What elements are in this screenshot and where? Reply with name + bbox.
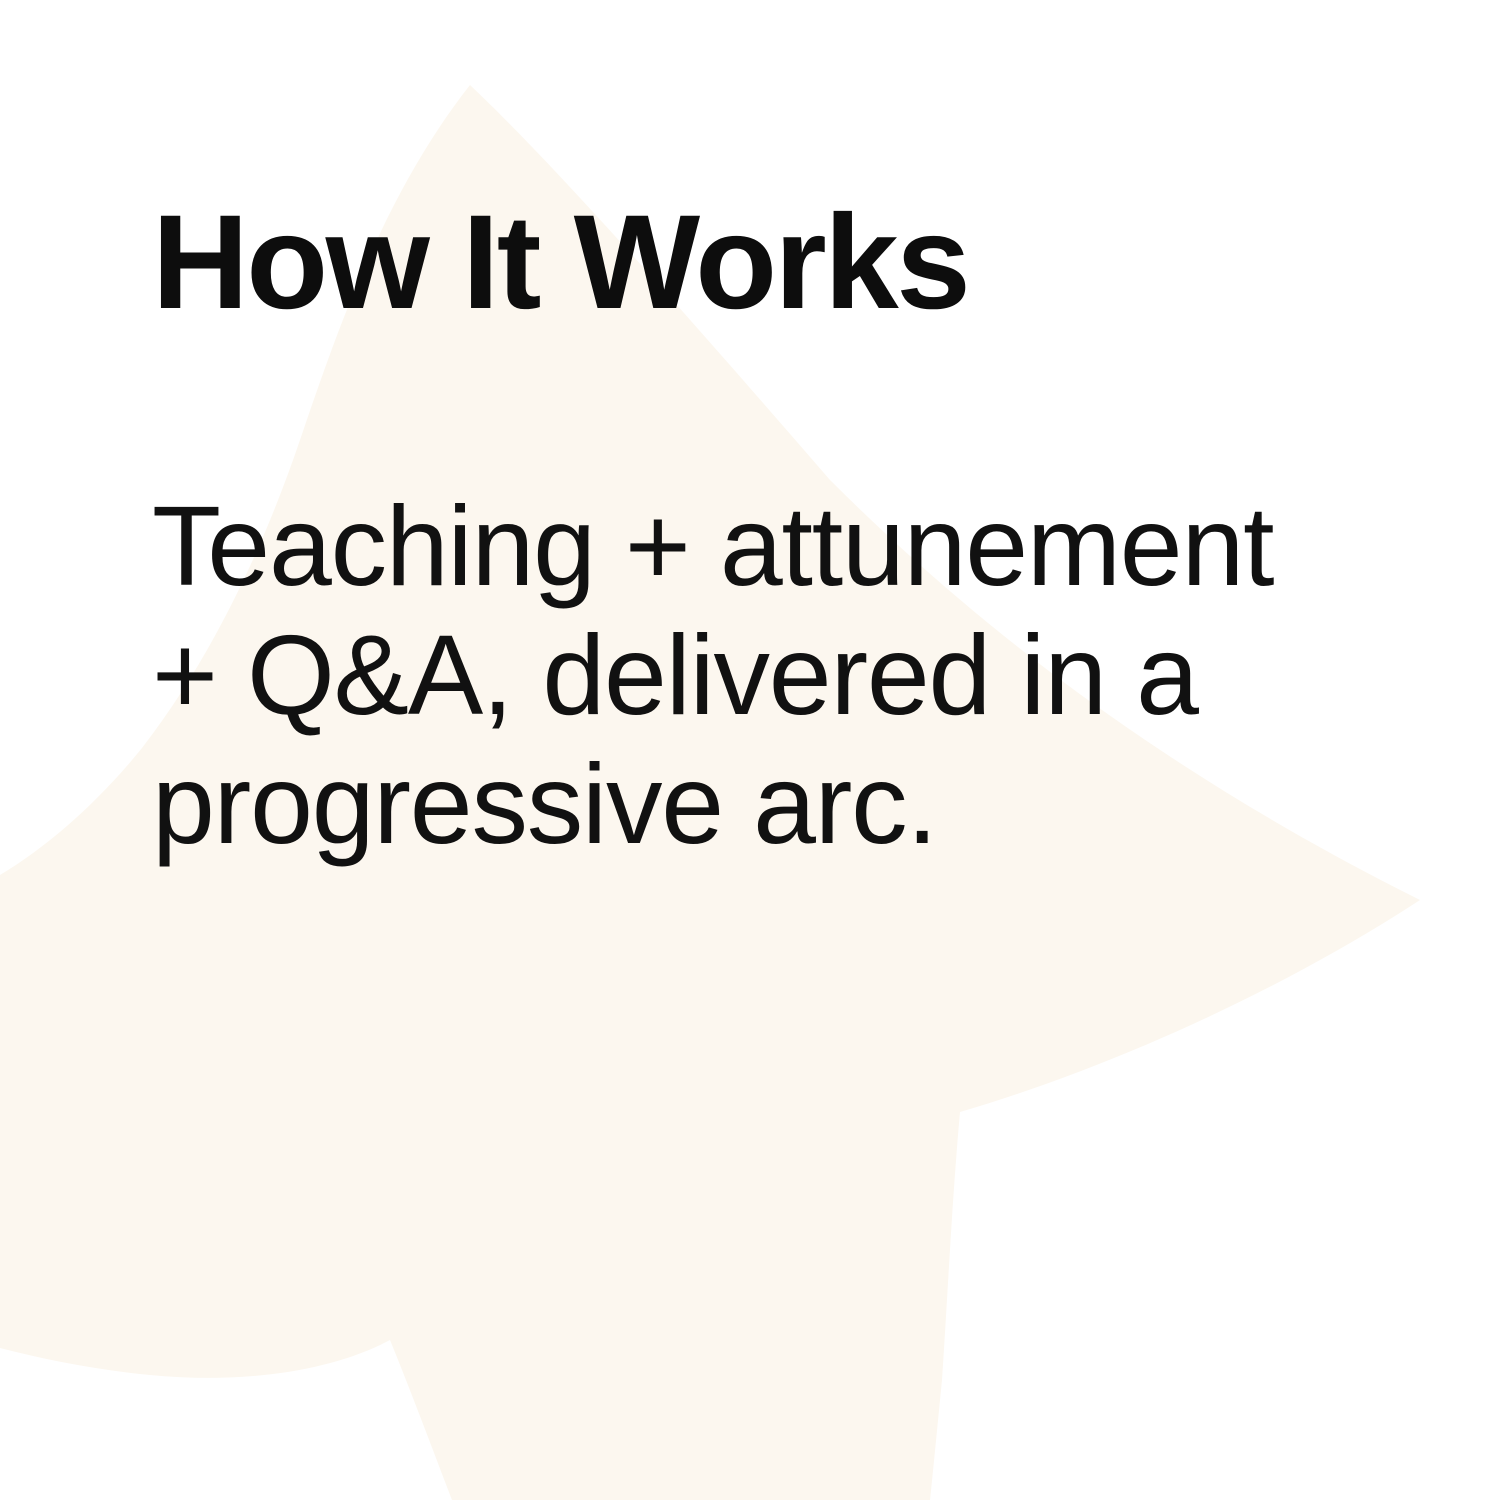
slide-content: How It Works Teaching + attunement + Q&A… [0,0,1500,1500]
slide-canvas: How It Works Teaching + attunement + Q&A… [0,0,1500,1500]
body-paragraph: Teaching + attunement + Q&A, delivered i… [152,482,1367,869]
page-title: How It Works [152,196,1352,330]
